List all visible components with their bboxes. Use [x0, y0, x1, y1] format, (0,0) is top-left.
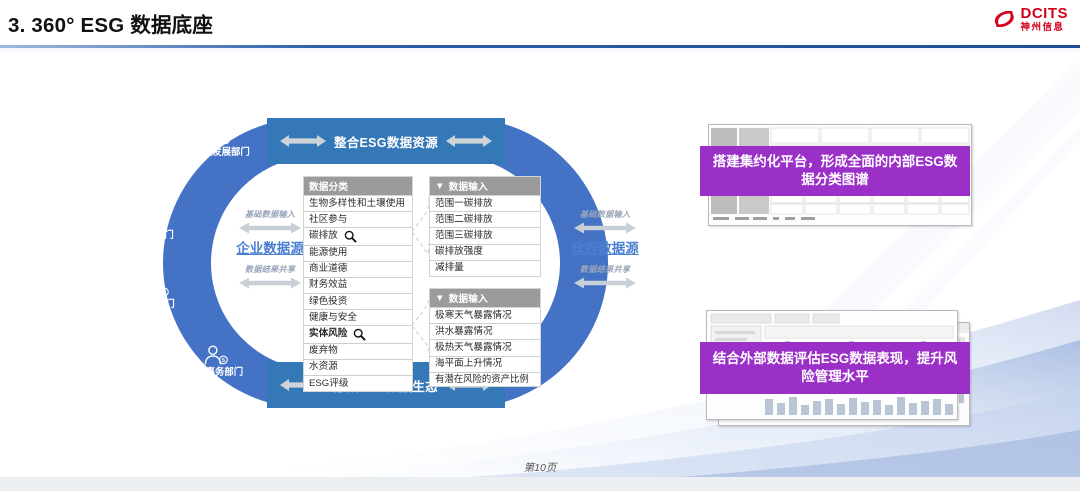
government-data-source-title: 政府数据源 [545, 237, 665, 257]
table-row[interactable]: 范围二碳排放 [430, 212, 540, 228]
double-arrow-icon [446, 134, 492, 148]
table-cell-label: 碳排放 [309, 230, 338, 242]
node-label: 风险部门 [136, 229, 174, 240]
header-divider-shadow [0, 48, 1080, 55]
magnifier-icon[interactable] [344, 230, 357, 243]
data-classification-table: 数据分类 生物多样性和土壤使用 社区参与 碳排放 能源使用 商业道德 财务效益 … [303, 176, 413, 392]
table-row[interactable]: 减排量 [430, 261, 540, 276]
table-header-label: 数据输入 [449, 291, 488, 305]
table-row[interactable]: 健康与安全 [304, 310, 412, 326]
node-label: 投资部门 [137, 298, 175, 309]
person-outline-icon: B [143, 277, 170, 298]
screenshot-panel-external-data: 结合外部数据评估ESG数据表现，提升风险管理水平 [700, 310, 970, 426]
screenshot-panel-platform: 搭建集约化平台，形成全面的内部ESG数据分类图谱 [700, 124, 970, 230]
svg-text:S: S [223, 138, 227, 144]
dcits-swirl-icon [991, 6, 1017, 32]
node-investment-dept[interactable]: B 投资部门 [117, 277, 195, 309]
triangle-down-icon: ▼ [435, 293, 445, 304]
magnifier-icon[interactable] [353, 328, 366, 341]
slide-root: 3. 360° ESG 数据底座 DCITS 神州信息 整合ESG数据资源 [0, 0, 1080, 491]
node-label: 公共事务部门 [187, 366, 243, 377]
table-row[interactable]: 能源使用 [304, 246, 412, 262]
node-label: 第三方评级机构 [596, 145, 662, 156]
table-row[interactable]: 商业道德 [304, 262, 412, 278]
table-row[interactable]: 洪水暴露情况 [430, 324, 540, 340]
table-row[interactable]: 废弃物 [304, 344, 412, 360]
callout-text-platform: 搭建集约化平台，形成全面的内部ESG数据分类图谱 [700, 146, 970, 196]
table-header: ▼ 数据输入 [430, 289, 540, 308]
band-top-label: 整合ESG数据资源 [334, 132, 438, 151]
government-data-source-group: 基础数据输入 政府数据源 数据结果共享 [545, 208, 665, 292]
band-integrate: 整合ESG数据资源 [267, 118, 505, 164]
table-row[interactable]: 有潜在风险的资产比例 [430, 373, 540, 386]
triangle-down-icon: ▼ [435, 181, 445, 192]
svg-text:S: S [161, 221, 165, 227]
svg-text:B: B [162, 290, 166, 296]
node-sustainability-dept[interactable]: S 可持续发展部门 [178, 125, 256, 157]
table-row[interactable]: 碳排放 [304, 228, 412, 245]
table-row[interactable]: 碳排放强度 [430, 245, 540, 261]
node-label: 政府数据 [650, 293, 688, 304]
page-number: 第10页 [0, 460, 1080, 475]
node-label: 客户官方信息披露及估测 [584, 357, 659, 378]
footer-bar [0, 477, 1080, 491]
logo-text-en: DCITS [1021, 6, 1069, 21]
caption-data-result-share: 数据结果共享 [545, 263, 665, 275]
table-row[interactable]: 范围三碳排放 [430, 228, 540, 244]
person-filled-icon [610, 338, 634, 357]
caption-basic-data-input: 基础数据输入 [545, 208, 665, 220]
carbon-data-input-table: ▼ 数据输入 范围一碳排放 范围二碳排放 范围三碳排放 碳排放强度 减排量 [429, 176, 541, 277]
table-row[interactable]: 海平面上升情况 [430, 357, 540, 373]
person-outline-icon: S [142, 208, 169, 229]
page-title: 3. 360° ESG 数据底座 [8, 8, 213, 38]
table-cell-label: 实体风险 [309, 328, 347, 340]
double-arrow-icon [574, 277, 636, 289]
table-header-label: 数据输入 [449, 179, 488, 193]
table-row[interactable]: 生物多样性和土壤使用 [304, 196, 412, 212]
table-row[interactable]: 绿色投资 [304, 294, 412, 310]
node-public-affairs-dept[interactable]: S 公共事务部门 [176, 345, 254, 377]
person-filled-icon [617, 126, 641, 145]
callout-text-external-data: 结合外部数据评估ESG数据表现，提升风险管理水平 [700, 342, 970, 394]
node-label: 可持续发展部门 [184, 146, 250, 157]
table-row[interactable]: 水资源 [304, 360, 412, 376]
brand-logo: DCITS 神州信息 [991, 6, 1069, 33]
table-row[interactable]: 极热天气暴露情况 [430, 340, 540, 356]
node-client-disclosure[interactable]: 客户官方信息披露及估测 [583, 338, 661, 378]
person-outline-icon: S [204, 125, 231, 146]
table-row[interactable]: 社区参与 [304, 212, 412, 228]
double-arrow-icon [280, 134, 326, 148]
double-arrow-icon [574, 222, 636, 234]
slide-header: 3. 360° ESG 数据底座 [0, 0, 1080, 46]
table-header: 数据分类 [304, 177, 412, 196]
table-row[interactable]: 实体风险 [304, 326, 412, 343]
svg-text:S: S [221, 358, 225, 364]
table-header: ▼ 数据输入 [430, 177, 540, 196]
physical-risk-data-input-table: ▼ 数据输入 极寒天气暴露情况 洪水暴露情况 极热天气暴露情况 海平面上升情况 … [429, 288, 541, 387]
table-row[interactable]: ESG评级 [304, 376, 412, 391]
person-outline-icon: S [202, 345, 229, 366]
table-row[interactable]: 范围一碳排放 [430, 196, 540, 212]
double-arrow-icon [239, 277, 301, 289]
double-arrow-icon [239, 222, 301, 234]
table-row[interactable]: 极寒天气暴露情况 [430, 308, 540, 324]
table-row[interactable]: 财务效益 [304, 278, 412, 294]
logo-text-cn: 神州信息 [1021, 23, 1069, 33]
node-third-party-rating[interactable]: 第三方评级机构 [590, 126, 668, 156]
node-risk-dept[interactable]: S 风险部门 [116, 208, 194, 240]
